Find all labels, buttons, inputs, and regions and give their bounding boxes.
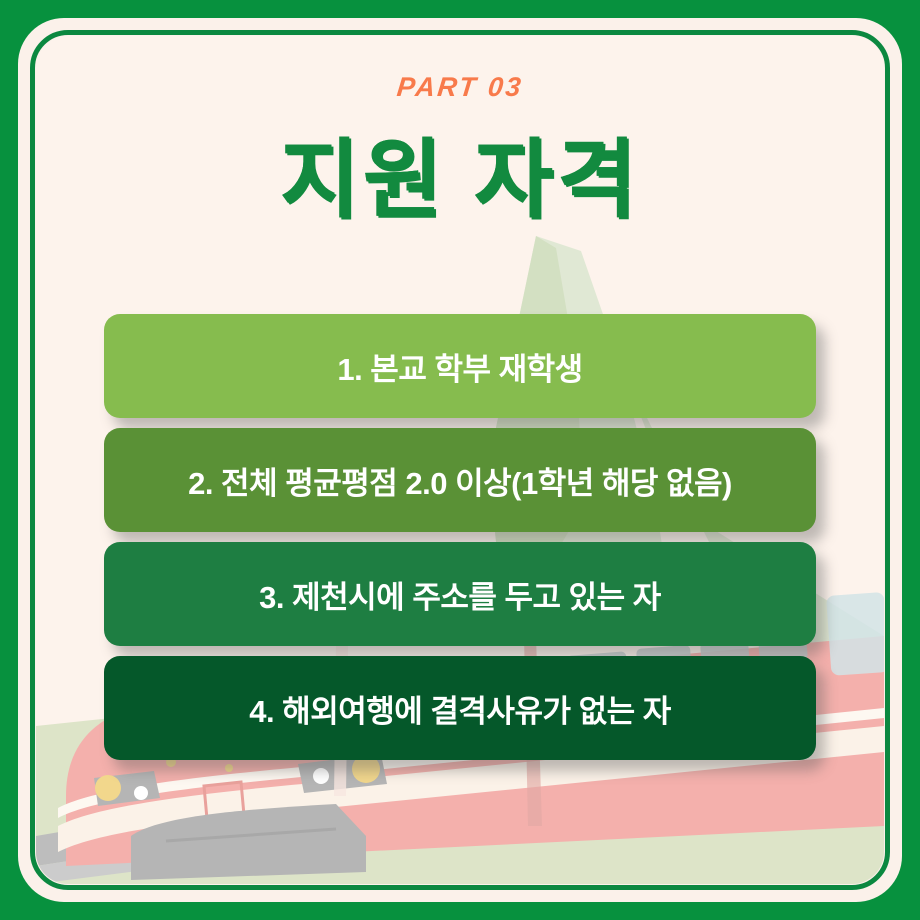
requirement-label-4: 4. 해외여행에 결격사유가 없는 자 [249, 686, 671, 731]
requirement-box-3[interactable]: 3. 제천시에 주소를 두고 있는 자 [104, 542, 816, 646]
requirement-box-1[interactable]: 1. 본교 학부 재학생 [104, 314, 816, 418]
requirement-box-2[interactable]: 2. 전체 평균평점 2.0 이상(1학년 해당 없음) [104, 428, 816, 532]
requirement-label-1: 1. 본교 학부 재학생 [337, 344, 582, 389]
poster-canvas: PART 03 지원 자격 1. 본교 학부 재학생 2. 전체 평균평점 2.… [36, 36, 884, 884]
page-title-wrap: 지원 자격 [280, 103, 640, 234]
poster-header: PART 03 지원 자격 [36, 36, 884, 234]
requirement-box-4[interactable]: 4. 해외여행에 결격사유가 없는 자 [104, 656, 816, 760]
requirement-label-2: 2. 전체 평균평점 2.0 이상(1학년 해당 없음) [188, 458, 732, 503]
requirements-list: 1. 본교 학부 재학생 2. 전체 평균평점 2.0 이상(1학년 해당 없음… [36, 314, 884, 770]
page-title: 지원 자격 [280, 109, 640, 234]
poster-card: PART 03 지원 자격 1. 본교 학부 재학생 2. 전체 평균평점 2.… [0, 0, 920, 920]
requirement-label-3: 3. 제천시에 주소를 두고 있는 자 [259, 572, 661, 617]
part-label: PART 03 [36, 72, 884, 103]
